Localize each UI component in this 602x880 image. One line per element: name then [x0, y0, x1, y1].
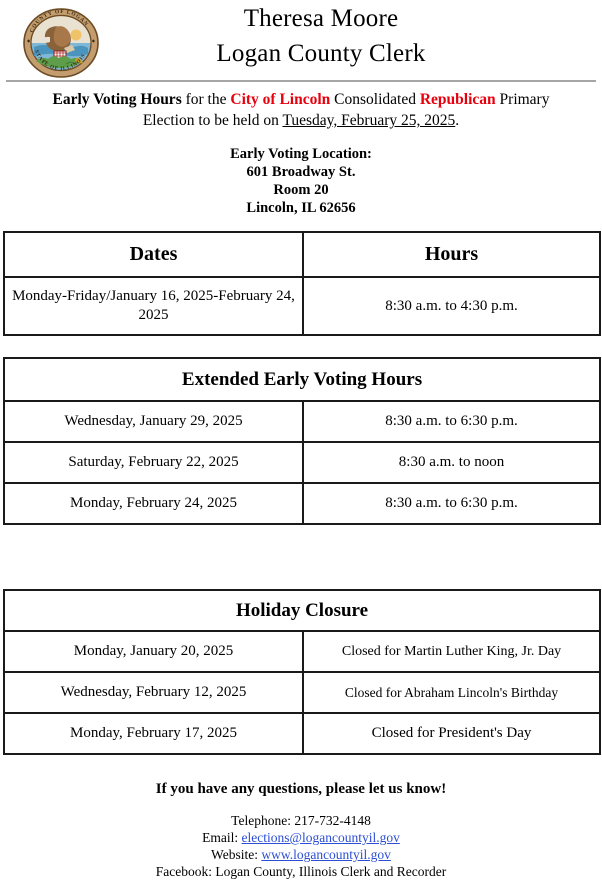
- table-row: Monday-Friday/January 16, 2025-February …: [4, 277, 600, 335]
- county-seal-icon: COUNTY OF LOGAN STATE OF ILLINOIS: [22, 7, 100, 79]
- cell-hours: 8:30 a.m. to 6:30 p.m.: [303, 483, 600, 524]
- table-row: Saturday, February 22, 2025 8:30 a.m. to…: [4, 442, 600, 483]
- cell-hours: 8:30 a.m. to 4:30 p.m.: [303, 277, 600, 335]
- header-divider: [6, 80, 596, 82]
- table-row: Monday, February 24, 2025 8:30 a.m. to 6…: [4, 483, 600, 524]
- contact-website-line: Website: www.logancountyil.gov: [0, 846, 602, 863]
- table-row: Monday, February 17, 2025 Closed for Pre…: [4, 713, 600, 754]
- location-street: 601 Broadway St.: [0, 163, 602, 181]
- holiday-closure-table: Holiday Closure Monday, January 20, 2025…: [3, 589, 601, 755]
- cell-dates: Monday-Friday/January 16, 2025-February …: [4, 277, 303, 335]
- intro-city-of-lincoln: City of Lincoln: [230, 91, 330, 108]
- questions-call-to-action: If you have any questions, please let us…: [0, 781, 602, 798]
- cell-date: Monday, February 17, 2025: [4, 713, 303, 754]
- intro-paragraph: Early Voting Hours for the City of Linco…: [36, 89, 566, 131]
- column-header-hours: Hours: [303, 232, 600, 277]
- location-room: Room 20: [0, 181, 602, 199]
- cell-date: Monday, February 24, 2025: [4, 483, 303, 524]
- extended-hours-table: Extended Early Voting Hours Wednesday, J…: [3, 357, 601, 525]
- table-header-row: Holiday Closure: [4, 590, 600, 631]
- location-heading: Early Voting Location:: [0, 145, 602, 163]
- intro-text-2: for the: [182, 91, 231, 108]
- intro-early-voting-hours: Early Voting Hours: [53, 91, 182, 108]
- cell-date: Monday, January 20, 2025: [4, 631, 303, 672]
- contact-website-link[interactable]: www.logancountyil.gov: [261, 847, 391, 862]
- intro-republican: Republican: [420, 91, 496, 108]
- contact-email-line: Email: elections@logancountyil.gov: [0, 829, 602, 846]
- cell-date: Wednesday, January 29, 2025: [4, 401, 303, 442]
- contact-website-label: Website:: [211, 847, 261, 862]
- contact-facebook: Facebook: Logan County, Illinois Clerk a…: [0, 863, 602, 880]
- cell-date: Wednesday, February 12, 2025: [4, 672, 303, 713]
- table-row: Monday, January 20, 2025 Closed for Mart…: [4, 631, 600, 672]
- intro-text-4: Consolidated: [330, 91, 420, 108]
- cell-date: Saturday, February 22, 2025: [4, 442, 303, 483]
- intro-election-date: Tuesday, February 25, 2025: [282, 112, 455, 129]
- cell-hours: 8:30 a.m. to 6:30 p.m.: [303, 401, 600, 442]
- extended-table-title: Extended Early Voting Hours: [4, 358, 600, 401]
- cell-reason: Closed for Abraham Lincoln's Birthday: [303, 672, 600, 713]
- holiday-table-title: Holiday Closure: [4, 590, 600, 631]
- contact-email-link[interactable]: elections@logancountyil.gov: [242, 830, 400, 845]
- contact-email-label: Email:: [202, 830, 241, 845]
- column-header-dates: Dates: [4, 232, 303, 277]
- location-city-state-zip: Lincoln, IL 62656: [0, 199, 602, 217]
- table-row: Wednesday, January 29, 2025 8:30 a.m. to…: [4, 401, 600, 442]
- contact-telephone: Telephone: 217-732-4148: [0, 812, 602, 829]
- dates-hours-table: Dates Hours Monday-Friday/January 16, 20…: [3, 231, 601, 336]
- cell-reason: Closed for Martin Luther King, Jr. Day: [303, 631, 600, 672]
- cell-hours: 8:30 a.m. to noon: [303, 442, 600, 483]
- official-title: Logan County Clerk: [40, 36, 602, 72]
- cell-reason: Closed for President's Day: [303, 713, 600, 754]
- contact-info: Telephone: 217-732-4148 Email: elections…: [0, 812, 602, 880]
- intro-text-8: .: [455, 112, 459, 129]
- document-header: COUNTY OF LOGAN STATE OF ILLINOIS Theres…: [0, 0, 602, 78]
- official-name: Theresa Moore: [40, 2, 602, 36]
- table-header-row: Extended Early Voting Hours: [4, 358, 600, 401]
- early-voting-location: Early Voting Location: 601 Broadway St. …: [0, 145, 602, 217]
- table-header-row: Dates Hours: [4, 232, 600, 277]
- table-row: Wednesday, February 12, 2025 Closed for …: [4, 672, 600, 713]
